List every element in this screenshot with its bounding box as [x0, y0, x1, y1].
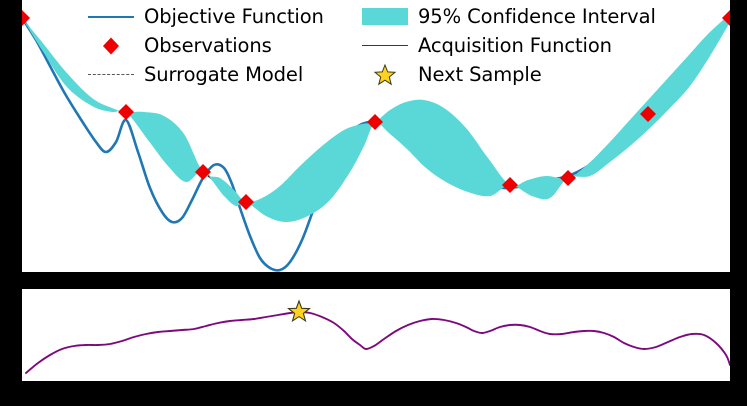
acquisition-panel	[22, 289, 730, 381]
series-line	[26, 312, 730, 373]
next-sample-star-marker[interactable]	[289, 301, 310, 321]
objective-panel	[22, 0, 730, 272]
objective-plot-svg	[22, 0, 730, 272]
figure-root: Objective Function Observations Surrogat…	[0, 0, 747, 406]
acquisition-plot-svg	[22, 289, 730, 381]
observation-marker[interactable]	[502, 177, 518, 193]
